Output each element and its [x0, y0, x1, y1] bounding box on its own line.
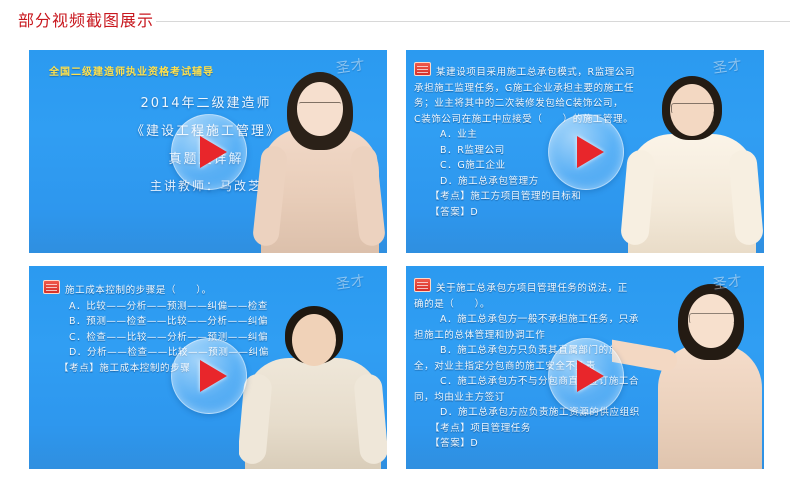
option-b: B．预测——检查——比较——分析——纠偏: [43, 314, 381, 330]
option-a: A．施工总承包方一般不承担施工任务，只承: [414, 312, 758, 328]
video-thumbnail-4[interactable]: 关于施工总承包方项目管理任务的说法，正 确的是（ ）。 A．施工总承包方一般不承…: [406, 266, 764, 469]
play-button-1[interactable]: [171, 114, 247, 190]
answer-label: 【答案】D: [414, 436, 758, 452]
play-button-3[interactable]: [171, 338, 247, 414]
play-button-4[interactable]: [548, 338, 624, 414]
video-frame-3: 施工成本控制的步骤是（ ）。 A．比较——分析——预测——纠偏——检查 B．预测…: [29, 266, 387, 469]
video-frame-1: 全国二级建造师执业资格考试辅导 2014年二级建造师 《建设工程施工管理》 真题…: [29, 50, 387, 253]
watermark-logo-1: 圣才: [326, 53, 377, 81]
answer-label: 【答案】D: [414, 205, 758, 221]
play-button-2[interactable]: [548, 114, 624, 190]
question-line: 确的是（ ）。: [414, 297, 758, 313]
presenter-arm-right: [350, 145, 386, 247]
question-line: 关于施工总承包方项目管理任务的说法，正: [414, 278, 758, 297]
question-line: 务；业主将其中的二次装修发包给C装饰公司，: [414, 96, 758, 112]
presenter-arm-right: [353, 373, 387, 465]
section-header: 部分视频截图展示: [0, 0, 790, 42]
video-frame-4: 关于施工总承包方项目管理任务的说法，正 确的是（ ）。 A．施工总承包方一般不承…: [406, 266, 764, 469]
video-thumbnail-grid: 全国二级建造师执业资格考试辅导 2014年二级建造师 《建设工程施工管理》 真题…: [29, 50, 765, 469]
question-badge-icon: [414, 278, 431, 292]
video-thumbnail-3[interactable]: 施工成本控制的步骤是（ ）。 A．比较——分析——预测——纠偏——检查 B．预测…: [29, 266, 387, 469]
course-banner-text: 全国二级建造师执业资格考试辅导: [49, 63, 214, 78]
exam-point-label: 【考点】项目管理任务: [414, 421, 758, 437]
page-root: 部分视频截图展示 全国二级建造师执业资格考试辅导 2014年二级建造师 《建设工…: [0, 0, 790, 483]
question-line: 承担施工监理任务，G施工企业承担主要的施工任: [414, 81, 758, 97]
question-line: 某建设项目采用施工总承包模式，R监理公司: [414, 62, 758, 81]
video-thumbnail-1[interactable]: 全国二级建造师执业资格考试辅导 2014年二级建造师 《建设工程施工管理》 真题…: [29, 50, 387, 253]
header-divider: [156, 21, 790, 22]
page-title: 部分视频截图展示: [18, 11, 154, 31]
question-line: 施工成本控制的步骤是（ ）。: [43, 280, 381, 299]
question-badge-icon: [414, 62, 431, 76]
question-badge-icon: [43, 280, 60, 294]
video-frame-2: 某建设项目采用施工总承包模式，R监理公司 承担施工监理任务，G施工企业承担主要的…: [406, 50, 764, 253]
option-a: A．比较——分析——预测——纠偏——检查: [43, 299, 381, 315]
video-thumbnail-2[interactable]: 某建设项目采用施工总承包模式，R监理公司 承担施工监理任务，G施工企业承担主要的…: [406, 50, 764, 253]
exam-point-label: 【考点】施工方项目管理的目标和: [414, 189, 758, 205]
